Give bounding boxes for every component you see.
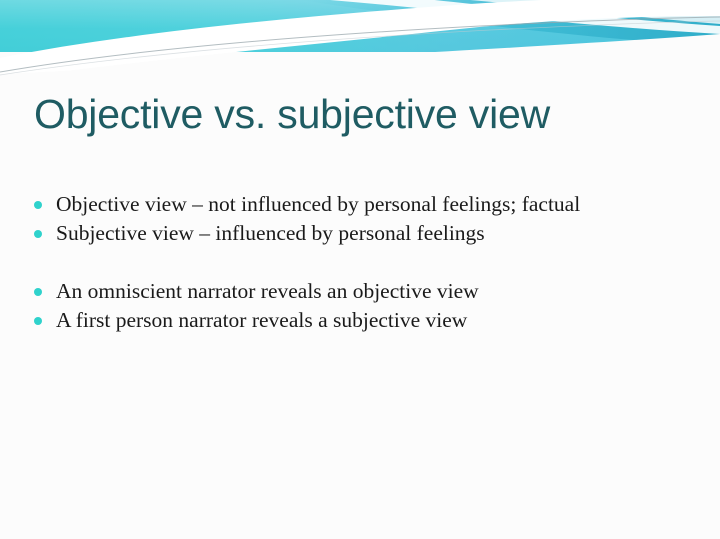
- slide-title: Objective vs. subjective view: [34, 92, 684, 137]
- teal-wave-banner-icon: [0, 0, 720, 80]
- list-item-text: An omniscient narrator reveals an object…: [54, 277, 684, 306]
- list-item: A first person narrator reveals a subjec…: [34, 306, 684, 335]
- list-item: An omniscient narrator reveals an object…: [34, 277, 684, 306]
- list-item: Objective view – not influenced by perso…: [34, 190, 684, 219]
- list-item-text: Objective view – not influenced by perso…: [54, 190, 684, 219]
- round-bullet-icon: [34, 277, 54, 296]
- round-bullet-icon: [34, 190, 54, 209]
- bullet-list: Objective view – not influenced by perso…: [34, 190, 684, 335]
- list-item: Subjective view – influenced by personal…: [34, 219, 684, 248]
- round-bullet-icon: [34, 306, 54, 325]
- list-spacer: [34, 248, 684, 277]
- list-item-text: A first person narrator reveals a subjec…: [54, 306, 684, 335]
- presentation-slide: Objective vs. subjective view Objective …: [0, 0, 720, 539]
- list-item-text: Subjective view – influenced by personal…: [54, 219, 684, 248]
- round-bullet-icon: [34, 219, 54, 238]
